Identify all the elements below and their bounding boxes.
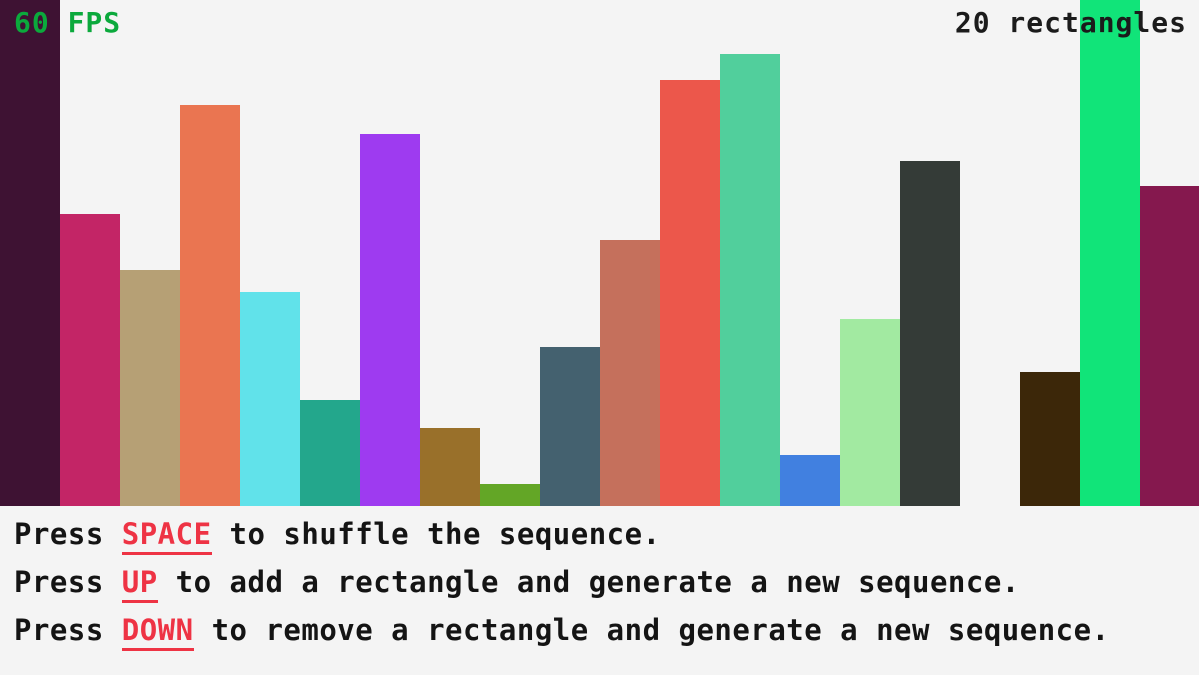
instruction-line: Press SPACE to shuffle the sequence.	[14, 510, 1199, 558]
bar-rectangle	[300, 400, 360, 506]
bar-rectangle	[780, 455, 840, 506]
bar-rectangle	[840, 319, 900, 506]
instruction-line: Press UP to add a rectangle and generate…	[14, 558, 1199, 606]
bar-chart	[0, 0, 1199, 506]
key-label-down[interactable]: DOWN	[122, 613, 194, 651]
fps-counter: 60 FPS	[14, 6, 121, 39]
key-label-space[interactable]: SPACE	[122, 517, 212, 555]
instruction-suffix: to remove a rectangle and generate a new…	[194, 613, 1110, 647]
app-canvas: 60 FPS 20 rectangles Press SPACE to shuf…	[0, 0, 1199, 675]
instruction-line: Press DOWN to remove a rectangle and gen…	[14, 606, 1199, 654]
bar-rectangle	[600, 240, 660, 506]
rectangle-count-label: 20 rectangles	[955, 6, 1187, 39]
instruction-prefix: Press	[14, 565, 122, 599]
bar-rectangle	[1080, 0, 1140, 506]
bar-rectangle	[1140, 186, 1199, 506]
bar-rectangle	[660, 80, 720, 506]
bar-rectangle	[480, 484, 540, 506]
bar-rectangle	[720, 54, 780, 506]
bar-rectangle	[120, 270, 180, 506]
instruction-prefix: Press	[14, 517, 122, 551]
instruction-prefix: Press	[14, 613, 122, 647]
bar-rectangle	[60, 214, 120, 506]
bar-rectangle	[1020, 372, 1080, 506]
bar-rectangle	[360, 134, 420, 506]
instruction-suffix: to add a rectangle and generate a new se…	[158, 565, 1020, 599]
bar-rectangle	[180, 105, 240, 506]
instructions-panel: Press SPACE to shuffle the sequence.Pres…	[0, 510, 1199, 654]
bar-rectangle	[900, 161, 960, 506]
key-label-up[interactable]: UP	[122, 565, 158, 603]
bar-rectangle	[420, 428, 480, 506]
bar-rectangle	[0, 0, 60, 506]
instruction-suffix: to shuffle the sequence.	[212, 517, 661, 551]
bar-rectangle	[240, 292, 300, 506]
bar-rectangle	[540, 347, 600, 506]
